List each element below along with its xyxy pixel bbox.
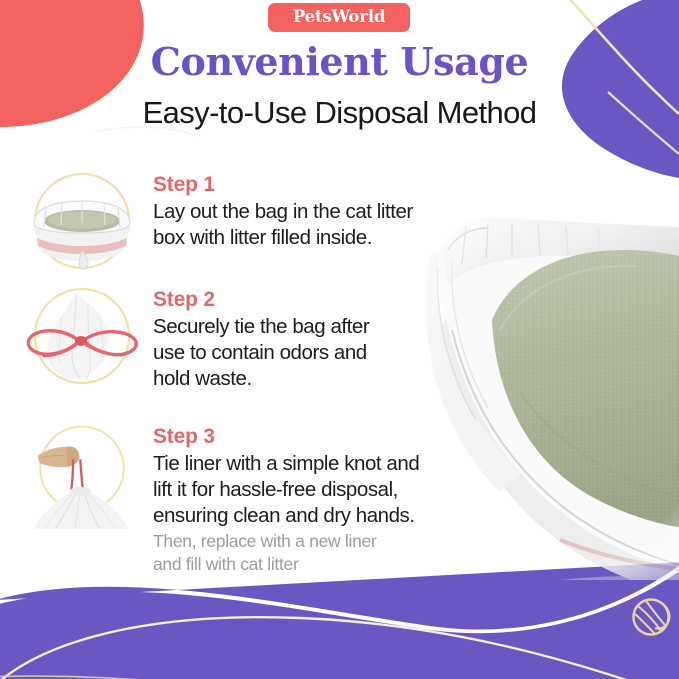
- step-3-body: Step 3 Tie liner with a simple knot and …: [153, 425, 483, 576]
- hand-lifting-bag-icon: [18, 415, 146, 535]
- step-3-label: Step 3: [153, 425, 483, 449]
- step-2-body: Step 2 Securely tie the bag after use to…: [153, 288, 483, 392]
- step-1-text: Lay out the bag in the cat litter box wi…: [153, 199, 483, 251]
- infographic-canvas: PetsWorld Convenient Usage Easy-to-Use D…: [0, 0, 679, 679]
- step-3-text: Tie liner with a simple knot and lift it…: [153, 451, 483, 529]
- tied-bag-with-bow-icon: [18, 278, 146, 398]
- brand-logo-badge: PetsWorld: [268, 3, 410, 32]
- step-1-body: Step 1 Lay out the bag in the cat litter…: [153, 173, 483, 251]
- litter-box-with-liner-icon: [18, 163, 146, 283]
- page-subtitle: Easy-to-Use Disposal Method: [0, 96, 679, 130]
- brand-logo-text: PetsWorld: [293, 9, 385, 26]
- step-2-text: Securely tie the bag after use to contai…: [153, 314, 483, 392]
- page-title: Convenient Usage: [0, 42, 679, 82]
- step-1-label: Step 1: [153, 173, 483, 197]
- step-3-note: Then, replace with a new liner and fill …: [153, 530, 483, 576]
- step-2-label: Step 2: [153, 288, 483, 312]
